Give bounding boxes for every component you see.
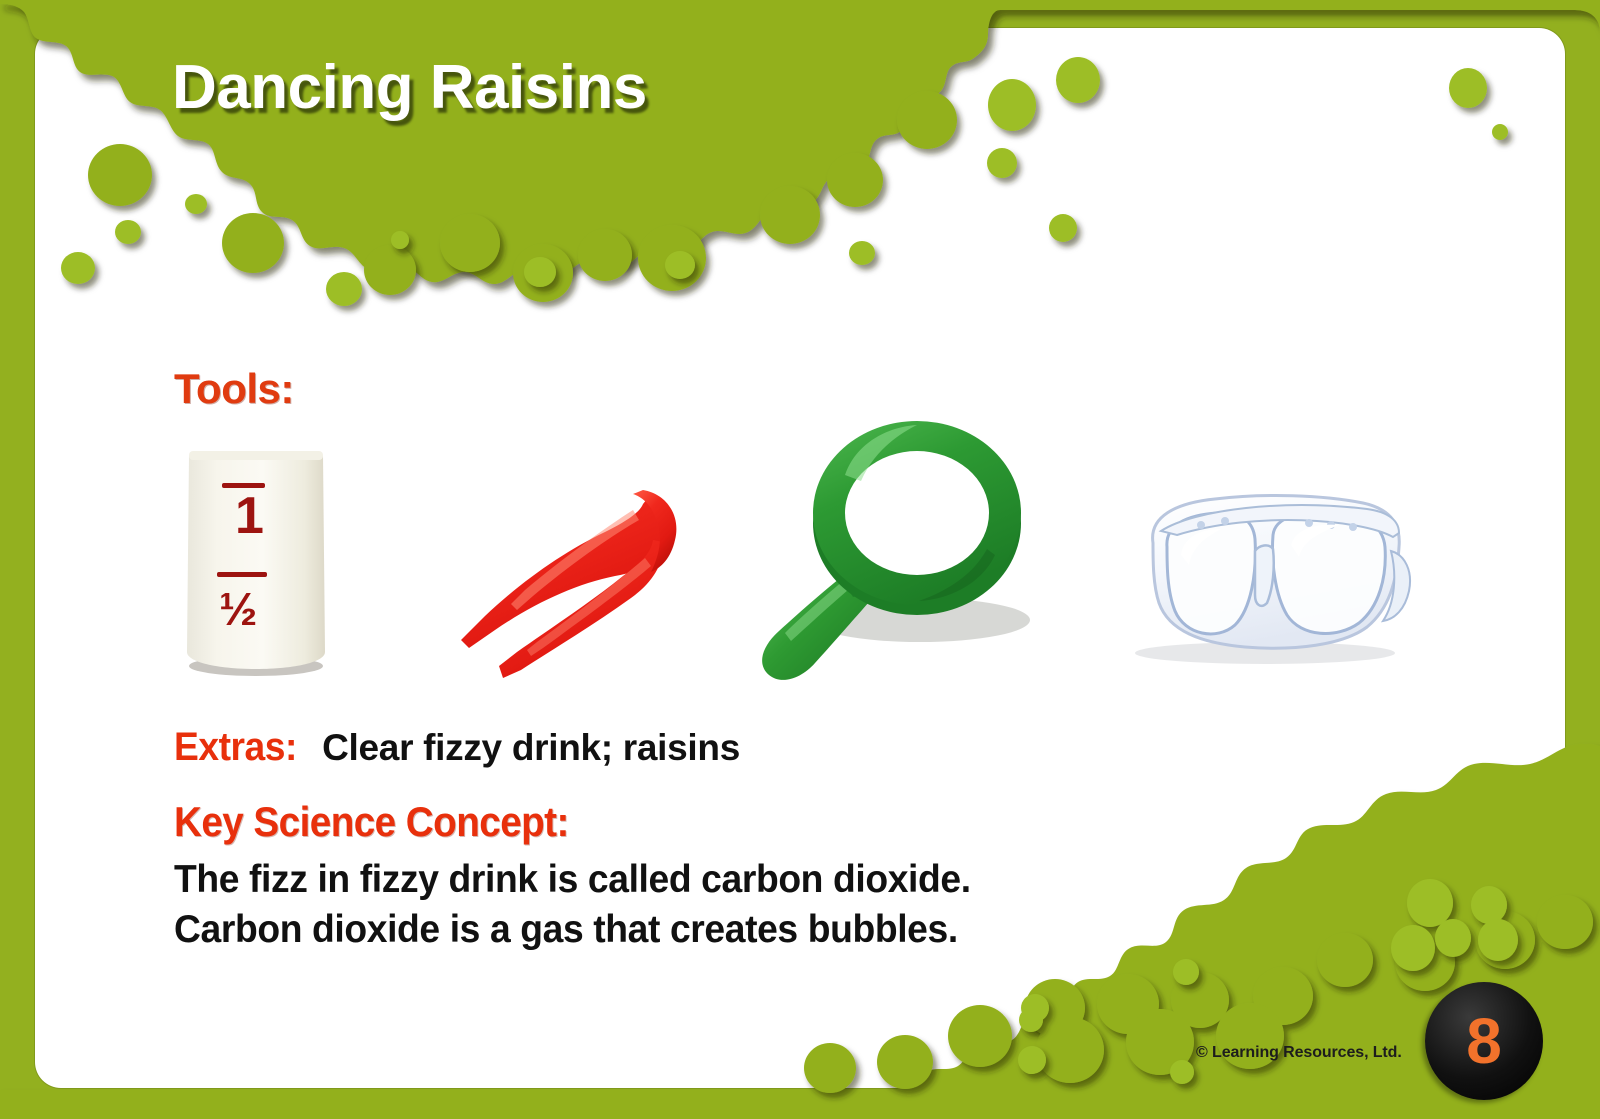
copyright-notice: © Learning Resources, Ltd. xyxy=(1196,1044,1402,1062)
activity-card: Dancing Raisins Tools: 1 ½ xyxy=(0,0,1600,1119)
page-title: Dancing Raisins xyxy=(172,52,647,123)
tools-label: Tools: xyxy=(174,365,294,413)
svg-text:1: 1 xyxy=(235,487,264,545)
measuring-cup-icon: 1 ½ xyxy=(175,447,337,677)
key-science-concept-line-1: The fizz in fizzy drink is called carbon… xyxy=(174,858,971,902)
key-science-concept-line-2: Carbon dioxide is a gas that creates bub… xyxy=(174,908,958,952)
extras-label: Extras: xyxy=(174,725,297,770)
magnifying-glass-icon xyxy=(705,415,1035,690)
page-number: 8 xyxy=(1425,982,1543,1100)
extras-value: Clear fizzy drink; raisins xyxy=(322,727,740,769)
key-science-concept-label: Key Science Concept: xyxy=(174,798,569,846)
svg-text:½: ½ xyxy=(219,583,257,635)
page-number-badge: 8 xyxy=(1425,982,1543,1100)
extras-row: Extras:Clear fizzy drink; raisins xyxy=(174,725,740,770)
tweezers-icon xyxy=(455,480,685,680)
safety-goggles-icon xyxy=(1105,485,1415,665)
